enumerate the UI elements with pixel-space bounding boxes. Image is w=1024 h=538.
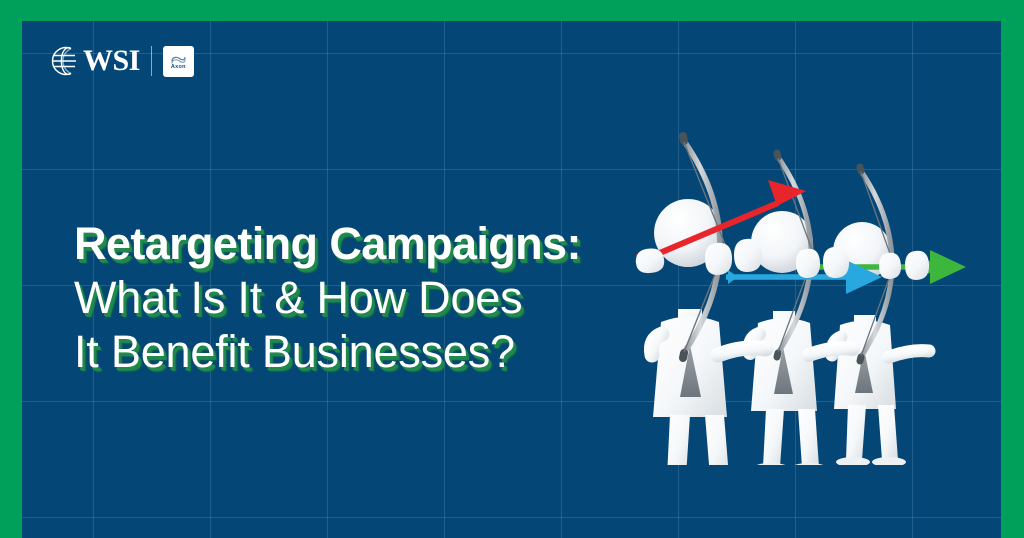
wsi-axon-logo[interactable]: WSI Axon	[51, 38, 194, 84]
axon-badge[interactable]: Axon	[163, 46, 194, 77]
wsi-wordmark: WSI	[83, 46, 140, 76]
axon-infinity-icon	[170, 52, 187, 63]
logo-divider	[151, 46, 152, 76]
headline-line-2: What Is It & How Does	[74, 271, 694, 325]
banner-canvas: WSI Axon Retargeting Campaigns: What Is	[22, 21, 1001, 538]
globe-icon	[51, 46, 81, 76]
wsi-logo: WSI	[51, 46, 140, 76]
page-title: Retargeting Campaigns: What Is It & How …	[74, 217, 694, 379]
promo-banner: WSI Axon Retargeting Campaigns: What Is	[0, 0, 1024, 538]
axon-label: Axon	[171, 64, 186, 70]
archer-figure-3	[811, 167, 966, 465]
headline-line-3: It Benefit Businesses?	[74, 325, 694, 379]
three-archers-illustration	[626, 125, 966, 465]
headline-line-1: Retargeting Campaigns:	[74, 217, 694, 271]
